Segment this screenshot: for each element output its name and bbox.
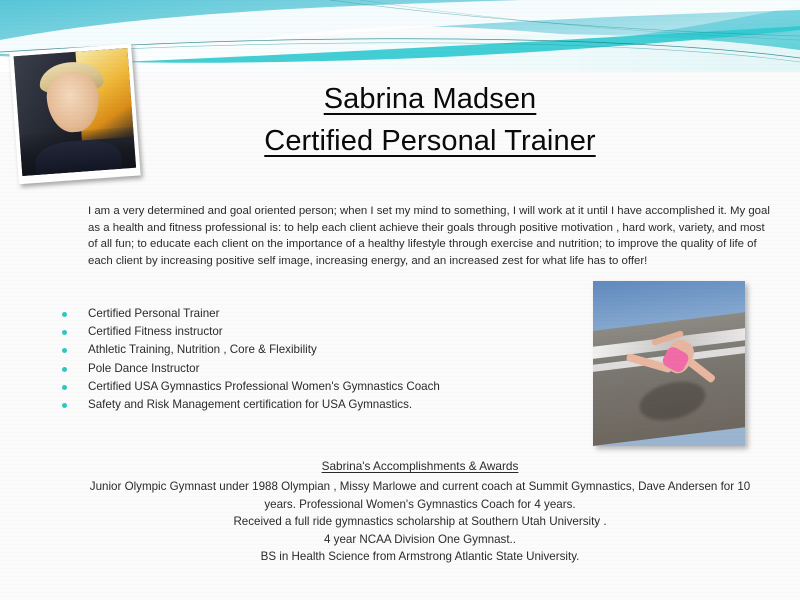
intro-paragraph: I am a very determined and goal oriented… [88,203,772,269]
beach-sand [593,307,745,446]
portrait-photo [9,44,140,185]
accomplishments-line: Junior Olympic Gymnast under 1988 Olympi… [88,478,752,513]
list-item: Safety and Risk Management certification… [60,396,580,414]
accomplishments-line: 4 year NCAA Division One Gymnast.. [88,531,752,549]
list-item: Certified USA Gymnastics Professional Wo… [60,378,580,396]
accomplishments-section: Sabrina's Accomplishments & Awards Junio… [88,458,752,566]
accomplishments-heading: Sabrina's Accomplishments & Awards [88,458,752,475]
list-item: Certified Fitness instructor [60,323,580,341]
slide-title-block: Sabrina Madsen Certified Personal Traine… [150,78,710,162]
accomplishments-line: Received a full ride gymnastics scholars… [88,513,752,531]
presentation-slide: Sabrina Madsen Certified Personal Traine… [0,0,800,600]
portrait-photo-image [14,48,136,176]
accomplishments-line: BS in Health Science from Armstrong Atla… [88,548,752,566]
slide-title-name-text: Sabrina Madsen [324,83,537,115]
credentials-list: Certified Personal Trainer Certified Fit… [60,305,580,414]
list-item: Athletic Training, Nutrition , Core & Fl… [60,341,580,359]
slide-title-role: Certified Personal Trainer [150,120,710,162]
list-item: Certified Personal Trainer [60,305,580,323]
beach-gymnast-photo [593,281,745,446]
list-item: Pole Dance Instructor [60,360,580,378]
slide-title-name: Sabrina Madsen [150,78,710,120]
slide-title-role-text: Certified Personal Trainer [264,125,595,157]
